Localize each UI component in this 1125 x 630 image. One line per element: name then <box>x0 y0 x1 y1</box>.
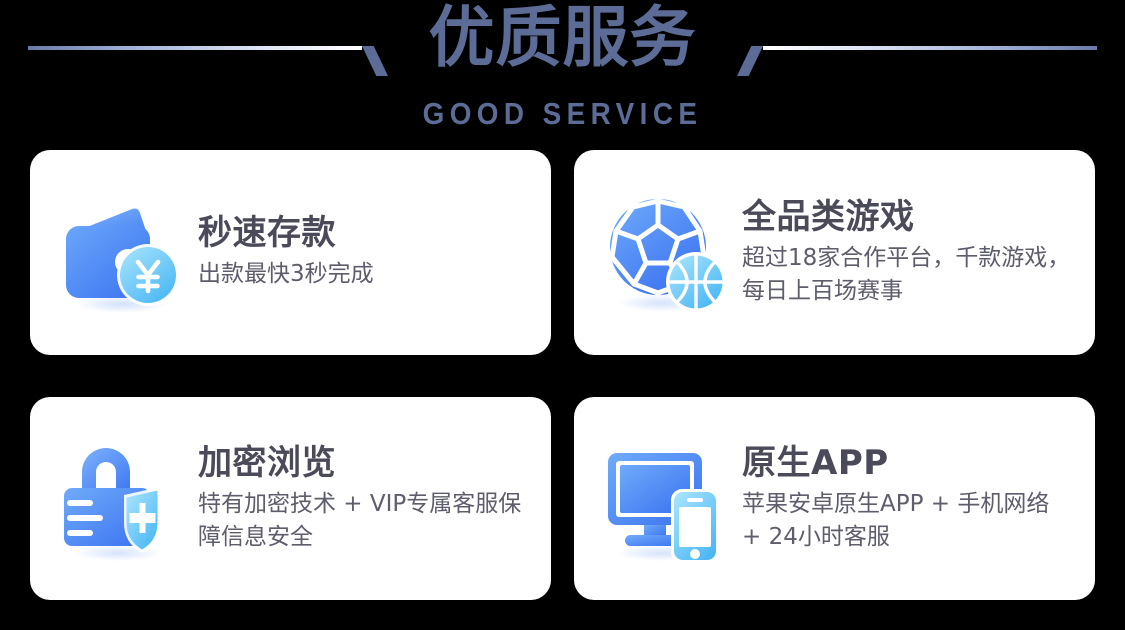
feature-card-text: 秒速存款 出款最快3秒完成 <box>188 214 533 291</box>
feature-card-title: 原生APP <box>742 444 1073 482</box>
feature-card-encryption[interactable]: 加密浏览 特有加密技术 + VIP专属客服保障信息安全 <box>30 397 551 600</box>
feature-card-title: 加密浏览 <box>198 444 529 482</box>
feature-card-desc: 特有加密技术 + VIP专属客服保障信息安全 <box>198 488 529 553</box>
section-header: 优质服务 GOOD SERVICE <box>0 0 1125 140</box>
wallet-yen-icon <box>56 187 188 319</box>
feature-card-text: 全品类游戏 超过18家合作平台，千款游戏，每日上百场赛事 <box>732 198 1077 307</box>
good-service-panel: 优质服务 GOOD SERVICE <box>0 0 1125 630</box>
feature-card-text: 原生APP 苹果安卓原生APP + 手机网络 + 24小时客服 <box>732 444 1077 553</box>
feature-card-native-app[interactable]: 原生APP 苹果安卓原生APP + 手机网络 + 24小时客服 <box>574 397 1095 600</box>
page-subtitle: GOOD SERVICE <box>56 96 1069 132</box>
page-title: 优质服务 <box>0 4 1125 71</box>
feature-card-text: 加密浏览 特有加密技术 + VIP专属客服保障信息安全 <box>188 444 533 553</box>
feature-card-desc: 出款最快3秒完成 <box>198 258 529 291</box>
feature-card-grid: 秒速存款 出款最快3秒完成 <box>30 150 1095 600</box>
feature-card-title: 秒速存款 <box>198 214 529 252</box>
monitor-phone-icon <box>600 433 732 565</box>
feature-card-desc: 超过18家合作平台，千款游戏，每日上百场赛事 <box>742 242 1073 307</box>
soccer-basketball-icon <box>600 187 732 319</box>
feature-card-desc: 苹果安卓原生APP + 手机网络 + 24小时客服 <box>742 488 1073 553</box>
feature-card-title: 全品类游戏 <box>742 198 1073 236</box>
feature-card-deposit[interactable]: 秒速存款 出款最快3秒完成 <box>30 150 551 355</box>
feature-card-games[interactable]: 全品类游戏 超过18家合作平台，千款游戏，每日上百场赛事 <box>574 150 1095 355</box>
lock-shield-icon <box>56 433 188 565</box>
